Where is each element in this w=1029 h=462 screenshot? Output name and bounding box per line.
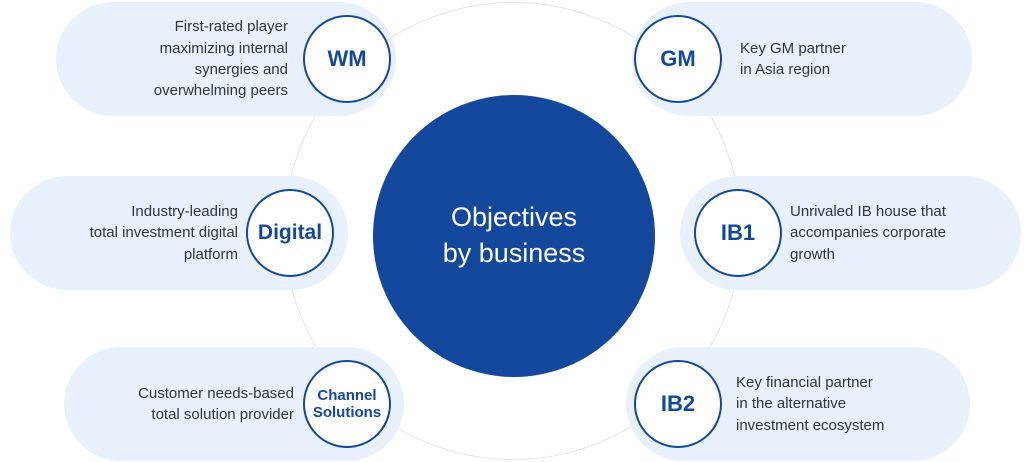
center-hub: Objectives by business xyxy=(373,95,655,377)
objective-node-ib1[interactable]: IB1 xyxy=(694,189,782,277)
objective-node-label-digital: Digital xyxy=(258,221,322,245)
objective-node-label-channel: Channel Solutions xyxy=(313,387,381,421)
objective-node-channel[interactable]: Channel Solutions xyxy=(303,360,391,448)
objective-description-ib1: Unrivaled IB house that accompanies corp… xyxy=(790,201,946,265)
objective-node-digital[interactable]: Digital xyxy=(246,189,334,277)
objective-node-label-gm: GM xyxy=(660,46,695,71)
objective-description-wm: First-rated player maximizing internal s… xyxy=(154,16,288,101)
objective-description-digital: Industry-leading total investment digita… xyxy=(90,201,238,265)
objective-description-ib2: Key financial partner in the alternative… xyxy=(736,372,884,436)
center-hub-label: Objectives by business xyxy=(423,200,606,271)
objective-node-label-ib1: IB1 xyxy=(721,220,755,245)
objective-description-gm: Key GM partner in Asia region xyxy=(740,38,846,81)
objectives-by-business-diagram: First-rated player maximizing internal s… xyxy=(0,0,1029,462)
objective-node-label-wm: WM xyxy=(327,46,366,71)
objective-node-gm[interactable]: GM xyxy=(634,15,722,103)
objective-description-channel: Customer needs-based total solution prov… xyxy=(138,383,294,426)
objective-node-label-ib2: IB2 xyxy=(661,391,695,416)
objective-node-ib2[interactable]: IB2 xyxy=(634,360,722,448)
objective-node-wm[interactable]: WM xyxy=(303,15,391,103)
